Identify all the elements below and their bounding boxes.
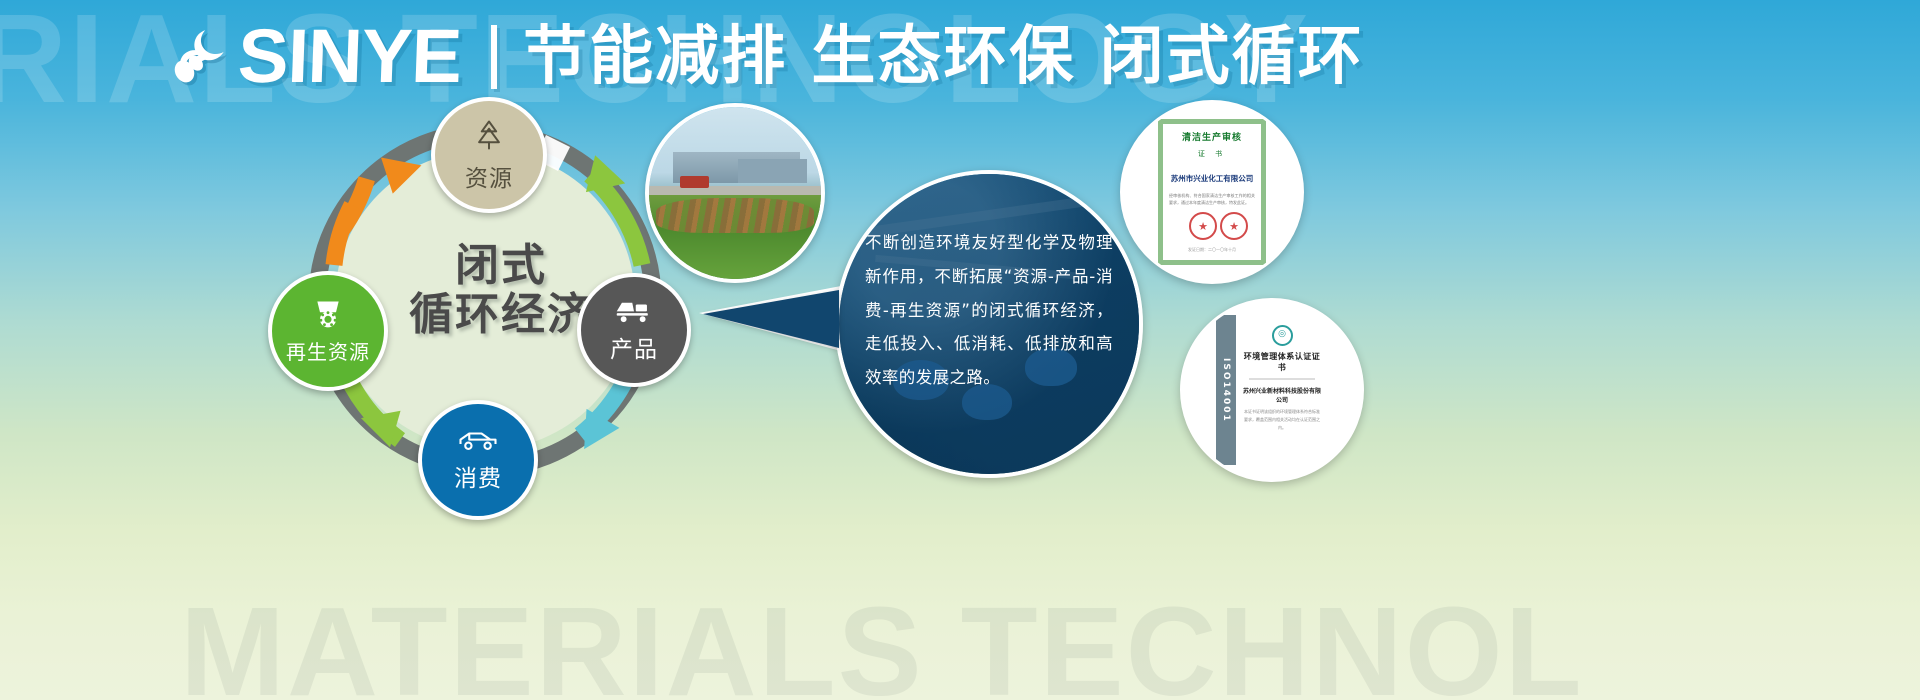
photo-flower-bed <box>656 198 814 232</box>
certificate-main: ◎ 环境管理体系认证证书 苏州兴业新材料科技股份有限公司 本证书证明该组织的环境… <box>1236 315 1328 465</box>
car-icon <box>457 428 499 457</box>
certificate-subtitle: 证 书 <box>1169 149 1255 159</box>
certificate-title: 清洁生产审核 <box>1169 132 1255 146</box>
header-divider <box>491 25 497 89</box>
node-label-product: 产品 <box>610 330 658 364</box>
philosophy-bubble: 不断创造环境友好型化学及物理新作用，不断拓展“资源-产品-消费-再生资源”的闭式… <box>835 170 1143 478</box>
node-label-consume: 消费 <box>454 459 502 493</box>
bubble-tail <box>703 290 839 348</box>
certificate-date: 发证日期：二〇一〇年十月 <box>1163 247 1261 253</box>
marketing-banner: ERIALS TECHNOLOGY MATERIALS TECHNOL SINY… <box>0 0 1920 700</box>
tree-icon <box>471 117 507 157</box>
diagram-node-product[interactable]: 产品 <box>577 273 691 387</box>
banner-header: SINYE 节能减排 生态环保 闭式循环 <box>168 14 1364 100</box>
bubble-text: 不断创造环境友好型化学及物理新作用，不断拓展“资源-产品-消费-再生资源”的闭式… <box>839 174 1139 474</box>
certificate-rule <box>1249 378 1315 380</box>
diagram-node-resource[interactable]: 资源 <box>431 97 547 213</box>
certificate-spine-label: ISO14001 <box>1221 358 1231 423</box>
certificate-holder: 苏州市兴业化工有限公司 <box>1169 173 1255 184</box>
node-label-recycle: 再生资源 <box>286 336 370 365</box>
certification-body-logo-icon: ◎ <box>1272 325 1293 346</box>
center-line-1: 闭式 <box>386 241 616 290</box>
certificate-paper: ISO14001 ◎ 环境管理体系认证证书 苏州兴业新材料科技股份有限公司 本证… <box>1216 315 1328 465</box>
certificate-holder: 苏州兴业新材料科技股份有限公司 <box>1243 386 1321 404</box>
photo-road <box>649 186 821 195</box>
recycle-icon <box>310 298 346 334</box>
headline-slogan: 节能减排 生态环保 闭式循环 <box>523 25 1364 89</box>
certificate-paper: 清洁生产审核 证 书 苏州市兴业化工有限公司 经审核机构、符合国家清洁生产审核工… <box>1158 119 1266 265</box>
certificate-title: 环境管理体系认证证书 <box>1243 351 1321 373</box>
brand-wordmark: SINYE <box>237 19 463 95</box>
certificate-body: 本证书证明该组织的环境管理体系符合标准要求，覆盖范围内相关活动均在认证范围之内。 <box>1243 408 1321 432</box>
node-label-resource: 资源 <box>465 159 513 193</box>
certificate-clean-production[interactable]: 清洁生产审核 证 书 苏州市兴业化工有限公司 经审核机构、符合国家清洁生产审核工… <box>1120 100 1304 284</box>
closed-loop-diagram: 闭式 循环经济 资源 <box>290 105 680 495</box>
certificate-body: 经审核机构、符合国家清洁生产审核工作的相关要求，通过本年度清洁生产审核，特发此证… <box>1169 192 1255 207</box>
truck-icon <box>615 297 653 328</box>
certificate-spine: ISO14001 <box>1216 315 1236 465</box>
factory-photo <box>645 103 825 283</box>
diagram-node-consume[interactable]: 消费 <box>418 400 538 520</box>
certificate-seals: ★ ★ <box>1189 212 1248 240</box>
red-seal-icon: ★ <box>1189 212 1217 240</box>
diagram-node-recycle[interactable]: 再生资源 <box>268 271 388 391</box>
certificate-iso14001[interactable]: ISO14001 ◎ 环境管理体系认证证书 苏州兴业新材料科技股份有限公司 本证… <box>1180 298 1364 482</box>
photo-truck <box>680 176 709 188</box>
photo-building-secondary <box>738 159 807 183</box>
watermark-bottom: MATERIALS TECHNOL <box>180 579 1584 700</box>
red-seal-icon: ★ <box>1220 212 1248 240</box>
leaf-splash-icon <box>168 24 234 90</box>
